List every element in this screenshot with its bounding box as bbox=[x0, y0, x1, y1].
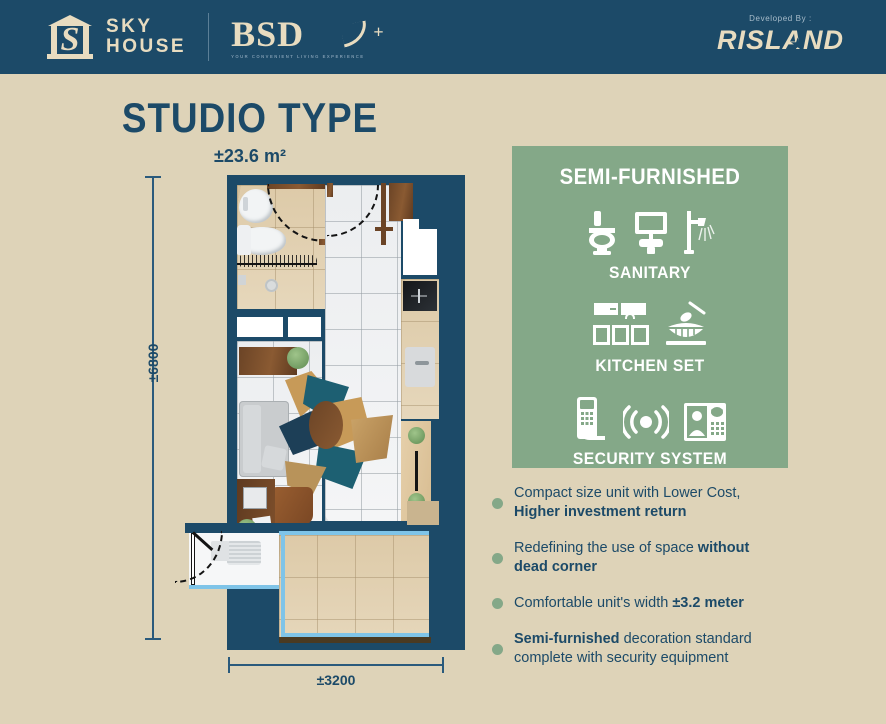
bullet-dot-icon bbox=[492, 644, 503, 655]
brand-logos: S SKY HOUSE BSD + YOUR CONVENIENT LIVING… bbox=[46, 10, 365, 64]
developer-logo: Developed By : RISLAND bbox=[717, 14, 844, 56]
vertical-dimension-line bbox=[152, 176, 154, 640]
risland-wordmark: RISLAND bbox=[717, 25, 844, 56]
feature-text-1: Compact size unit with Lower Cost, Highe… bbox=[514, 484, 740, 522]
bsd-plus-logo: BSD + YOUR CONVENIENT LIVING EXPERIENCE bbox=[231, 16, 365, 59]
planter-plant-top-icon bbox=[408, 427, 425, 444]
balcony-glass-door bbox=[279, 531, 429, 535]
desk-plant-icon bbox=[287, 347, 309, 369]
cooking-pan-icon bbox=[664, 301, 708, 349]
semi-furnished-panel: SEMI-FURNISHED bbox=[512, 146, 788, 468]
list-item: Compact size unit with Lower Cost, Highe… bbox=[492, 484, 822, 522]
horizontal-dimension-line bbox=[228, 664, 444, 666]
sky-house-wordmark: SKY HOUSE bbox=[106, 17, 186, 57]
video-intercom-icon bbox=[683, 402, 727, 442]
armchair bbox=[271, 487, 313, 525]
kitchen-lower-cabinet-right bbox=[288, 317, 321, 337]
horizontal-dimension-tick-right bbox=[442, 657, 444, 673]
vertical-dimension-tick-bottom bbox=[145, 638, 161, 640]
balcony-parapet-glass bbox=[281, 633, 429, 637]
kitchen-sink-basin-icon bbox=[405, 347, 435, 387]
service-window-sill bbox=[189, 585, 279, 589]
unit-area-label: ±23.6 m² bbox=[0, 146, 500, 167]
horizontal-dimension-label: ±3200 bbox=[228, 672, 444, 688]
wardrobe-door-rail bbox=[381, 183, 386, 245]
sky-house-line-1: SKY bbox=[106, 17, 186, 37]
bullet-dot-icon bbox=[492, 498, 503, 509]
list-item: Comfortable unit's width ±3.2 meter bbox=[492, 594, 822, 613]
sanitary-group: SANITARY bbox=[512, 204, 788, 283]
security-system-group: SECURITY SYSTEM bbox=[512, 390, 788, 469]
feature-3-bold: ±3.2 meter bbox=[672, 595, 744, 611]
coffee-table bbox=[309, 401, 343, 449]
feature-2-line2: dead corner bbox=[514, 559, 597, 575]
wardrobe-unit bbox=[389, 183, 413, 221]
shower-curtain-icon bbox=[237, 255, 317, 267]
bsd-plus-symbol: + bbox=[373, 14, 384, 50]
kitchen-set-label: KITCHEN SET bbox=[523, 356, 777, 376]
page-header: S SKY HOUSE BSD + YOUR CONVENIENT LIVING… bbox=[0, 0, 886, 74]
kitchen-set-group: KITCHEN SET bbox=[512, 297, 788, 376]
security-system-label: SECURITY SYSTEM bbox=[523, 449, 777, 469]
developed-by-label: Developed By : bbox=[717, 14, 844, 23]
laptop-icon bbox=[243, 487, 267, 509]
entry-alcove bbox=[403, 229, 437, 275]
toilet-icon bbox=[585, 210, 619, 256]
planter-tree-branch-icon bbox=[415, 451, 418, 491]
wardrobe-door-handle bbox=[375, 227, 393, 231]
list-item: Redefining the use of space without dead… bbox=[492, 539, 822, 577]
feature-3-normal: Comfortable unit's width bbox=[514, 595, 672, 611]
feature-text-3: Comfortable unit's width ±3.2 meter bbox=[514, 594, 744, 613]
sky-house-line-2: HOUSE bbox=[106, 37, 186, 57]
sink-faucet-icon bbox=[243, 197, 248, 211]
bsd-leaf-icon bbox=[340, 20, 370, 47]
entry-alcove-step bbox=[403, 219, 419, 233]
bullet-dot-icon bbox=[492, 553, 503, 564]
toilet-tank-icon bbox=[237, 225, 251, 255]
bsd-wordmark: BSD bbox=[231, 14, 304, 54]
balcony-floor bbox=[279, 535, 429, 643]
feature-list: Compact size unit with Lower Cost, Highe… bbox=[492, 484, 822, 685]
bsd-tagline: YOUR CONVENIENT LIVING EXPERIENCE bbox=[231, 54, 365, 59]
horizontal-dimension-tick-left bbox=[228, 657, 230, 673]
kitchen-lower-cabinet-left bbox=[237, 317, 283, 337]
bullet-dot-icon bbox=[492, 598, 503, 609]
sofa-cushion-back bbox=[243, 405, 261, 473]
kitchen-cabinet-icon bbox=[592, 301, 650, 349]
vertical-dimension-tick-top bbox=[145, 176, 161, 178]
logo-divider bbox=[208, 13, 209, 61]
area-rug-wood-accent bbox=[351, 415, 393, 463]
sink-icon bbox=[633, 210, 669, 256]
feature-4-line2: complete with security equipment bbox=[514, 650, 728, 666]
feature-2-line1-normal: Redefining the use of space bbox=[514, 540, 698, 556]
feature-4-line1-normal: decoration standard bbox=[620, 631, 752, 647]
page-title: STUDIO TYPE bbox=[30, 94, 470, 142]
feature-text-4: Semi-furnished decoration standard compl… bbox=[514, 630, 752, 668]
shower-icon bbox=[683, 210, 715, 256]
washing-machine-icon bbox=[227, 541, 261, 565]
sanitary-label: SANITARY bbox=[523, 263, 777, 283]
floor-drain-icon bbox=[265, 279, 278, 292]
kitchen-sink-faucet-icon bbox=[415, 361, 429, 365]
feature-4-bold: Semi-furnished bbox=[514, 631, 620, 647]
balcony-parapet bbox=[279, 637, 431, 643]
feature-1-line1: Compact size unit with Lower Cost, bbox=[514, 485, 740, 501]
feature-1-line2: Higher investment return bbox=[514, 504, 686, 520]
list-item: Semi-furnished decoration standard compl… bbox=[492, 630, 822, 668]
floor-plan bbox=[175, 175, 465, 645]
feature-text-2: Redefining the use of space without dead… bbox=[514, 539, 749, 577]
balcony-railing-glass bbox=[281, 535, 285, 641]
feature-2-line1-bold: without bbox=[698, 540, 750, 556]
sofa-throw-pillow bbox=[261, 445, 287, 471]
motion-sensor-icon bbox=[623, 402, 669, 442]
sky-house-logo-icon: S bbox=[46, 13, 94, 61]
semi-furnished-title: SEMI-FURNISHED bbox=[523, 164, 777, 190]
stove-burner-marks bbox=[411, 289, 427, 303]
shower-mixer-icon bbox=[238, 275, 246, 285]
storage-cabinet bbox=[407, 501, 439, 525]
digital-door-lock-icon bbox=[573, 396, 609, 442]
vertical-dimension-label: ±6800 bbox=[145, 323, 161, 403]
